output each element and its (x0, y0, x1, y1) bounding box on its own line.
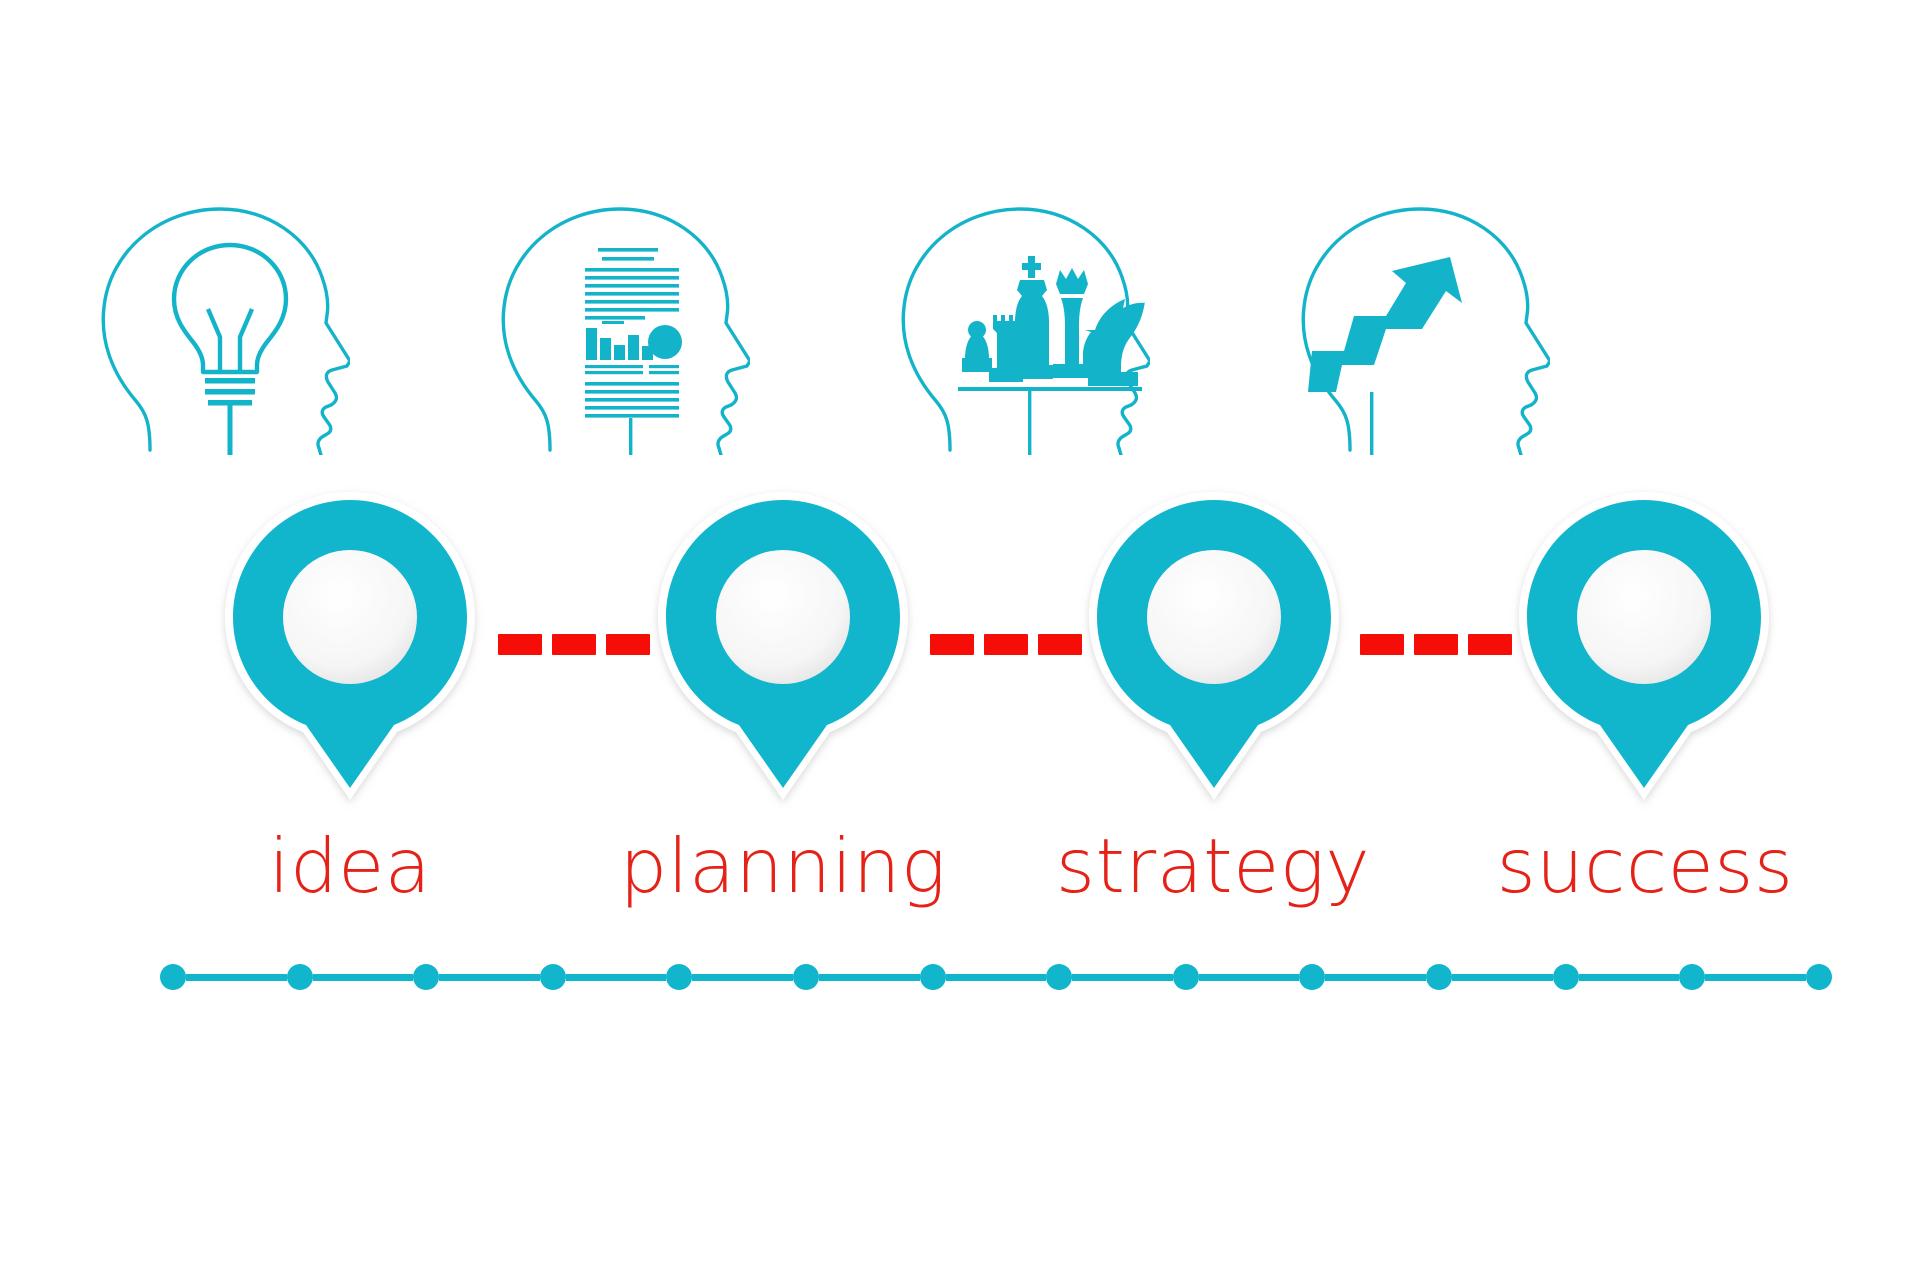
timeline-dot (287, 964, 313, 990)
map-pin-marker-planning[interactable] (633, 470, 953, 830)
head-icons-row (0, 165, 1920, 455)
timeline-dot (1806, 964, 1832, 990)
head-with-lightbulb-icon (0, 165, 400, 455)
timeline-dot (1679, 964, 1705, 990)
pin-markers-row (0, 470, 1920, 830)
timeline-dot (920, 964, 946, 990)
infographic-canvas: idea planning strategy success (0, 0, 1920, 1280)
timeline-segment (566, 974, 667, 981)
head-with-document-icon (400, 165, 800, 455)
timeline-dot (1299, 964, 1325, 990)
map-pin-marker-success[interactable] (1494, 470, 1814, 830)
timeline-segment (1705, 974, 1806, 981)
timeline-segment (1072, 974, 1173, 981)
step-label-planning: planning (573, 818, 993, 914)
timeline-segment (313, 974, 414, 981)
dash-segment (1414, 634, 1458, 655)
head-with-growth-arrow-icon (1200, 165, 1600, 455)
map-pin-marker-strategy[interactable] (1064, 470, 1384, 830)
timeline-dot (1173, 964, 1199, 990)
timeline-dot (1046, 964, 1072, 990)
timeline-segment (1579, 974, 1680, 981)
timeline-dot (413, 964, 439, 990)
timeline-segment (186, 974, 287, 981)
dash-segment (552, 634, 596, 655)
timeline-segment (439, 974, 540, 981)
timeline-dot (540, 964, 566, 990)
timeline-segment (1452, 974, 1553, 981)
dash-segment (984, 634, 1028, 655)
timeline-dot (1553, 964, 1579, 990)
timeline-dot (160, 964, 186, 990)
step-labels-row: idea planning strategy success (0, 818, 1920, 928)
timeline-segment (1325, 974, 1426, 981)
timeline-dot (793, 964, 819, 990)
step-label-success: success (1435, 818, 1855, 914)
step-label-idea: idea (140, 818, 560, 914)
step-label-strategy: strategy (1003, 818, 1423, 914)
timeline-segment (1199, 974, 1300, 981)
timeline-dot (666, 964, 692, 990)
map-pin-marker-idea[interactable] (200, 470, 520, 830)
timeline-segment (692, 974, 793, 981)
head-with-chess-pieces-icon (800, 165, 1200, 455)
timeline-segment (946, 974, 1047, 981)
timeline-dot (1426, 964, 1452, 990)
bottom-timeline (160, 955, 1832, 999)
timeline-segment (819, 974, 920, 981)
connector-idea-to-planning (498, 633, 650, 655)
